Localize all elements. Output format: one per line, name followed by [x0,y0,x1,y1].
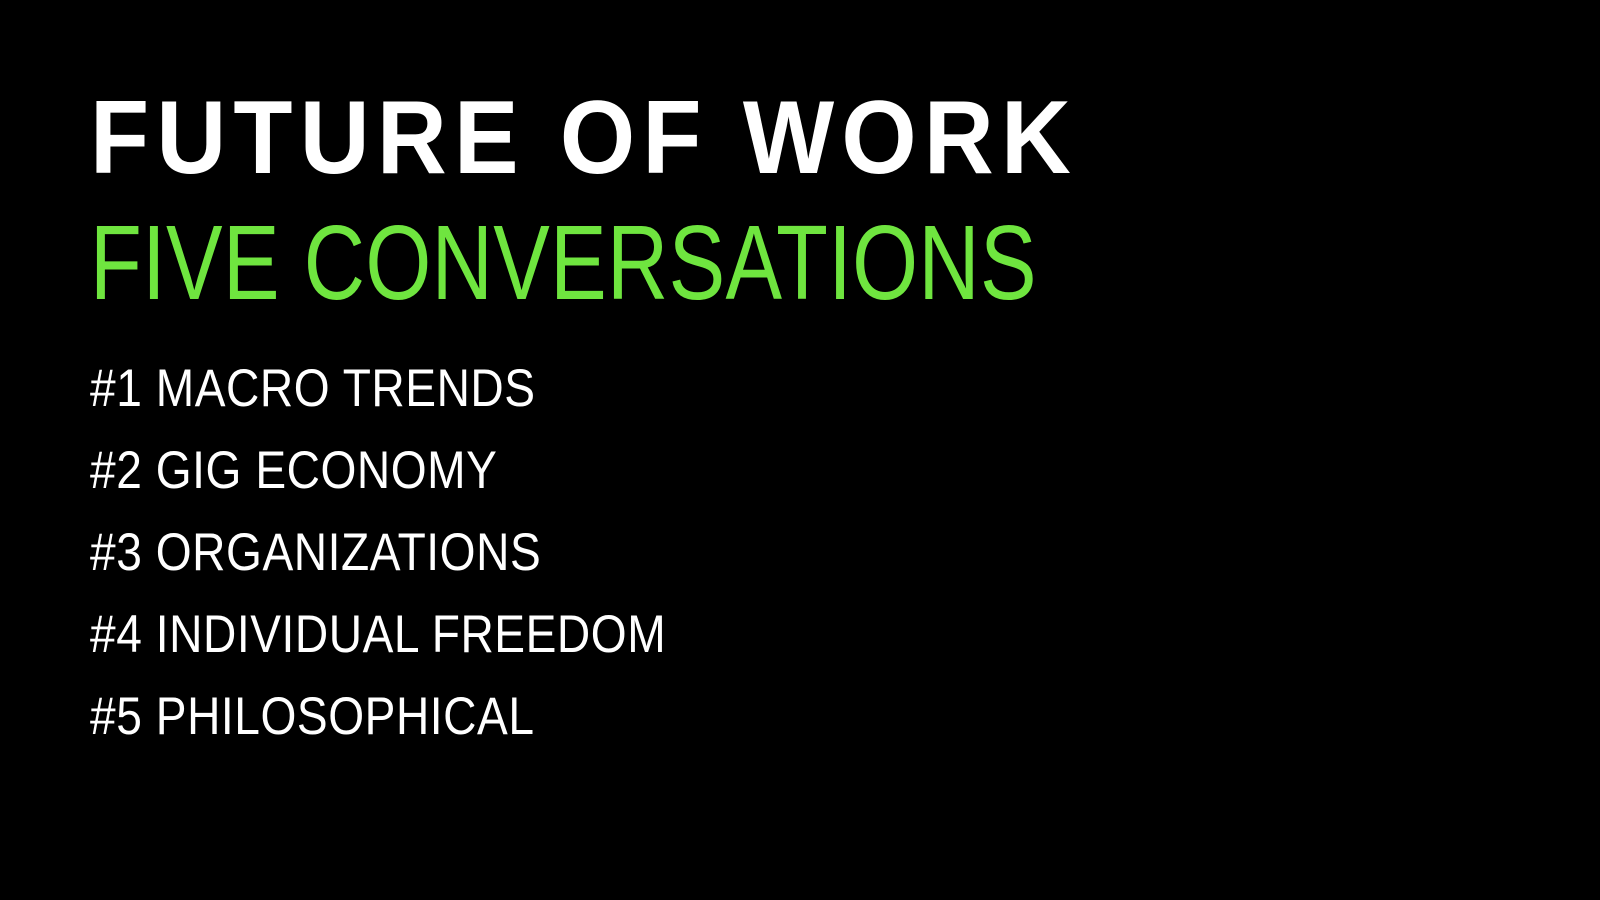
agenda-item-label: GIG ECONOMY [156,441,498,500]
presentation-slide: FUTURE OF WORK FIVE CONVERSATIONS #1 MAC… [0,0,1600,900]
agenda-item-label: ORGANIZATIONS [156,523,541,582]
list-item: #2 GIG ECONOMY [90,444,1047,526]
list-item: #4 INDIVIDUAL FREEDOM [90,608,1047,690]
slide-title-primary: FUTURE OF WORK [90,86,1113,190]
slide-title-block: FUTURE OF WORK FIVE CONVERSATIONS [90,86,1190,316]
agenda-item-number: #3 [90,523,156,582]
agenda-item-label: INDIVIDUAL FREEDOM [156,605,666,664]
agenda-item-label: PHILOSOPHICAL [156,687,535,746]
agenda-item-number: #2 [90,441,156,500]
agenda-list: #1 MACRO TRENDS #2 GIG ECONOMY #3 ORGANI… [90,362,1190,772]
list-item: #5 PHILOSOPHICAL [90,690,1047,772]
list-item: #1 MACRO TRENDS [90,362,1047,444]
list-item: #3 ORGANIZATIONS [90,526,1047,608]
agenda-item-label: MACRO TRENDS [156,359,536,418]
slide-title-subtitle: FIVE CONVERSATIONS [90,210,970,316]
agenda-item-number: #1 [90,359,156,418]
agenda-item-number: #4 [90,605,156,664]
agenda-item-number: #5 [90,687,156,746]
